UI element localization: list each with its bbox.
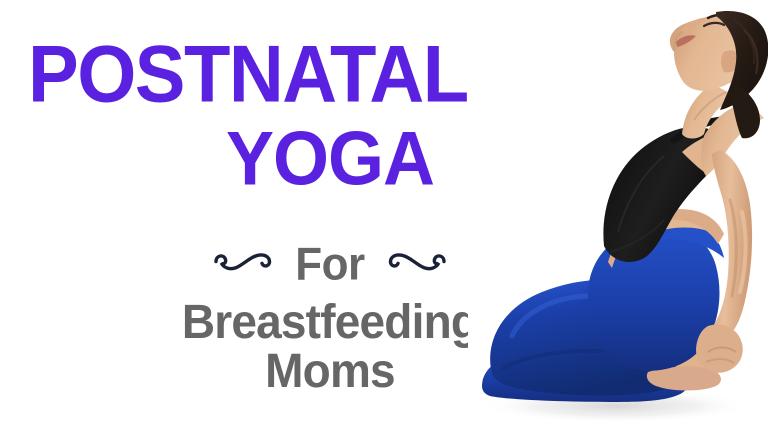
- swirl-flourish-left-icon: [211, 249, 273, 282]
- subtitle-word-for: For: [295, 242, 364, 288]
- thumbnail-canvas: POSTNATAL YOGA For Breastfeeding: [0, 0, 768, 432]
- text-block: POSTNATAL YOGA For Breastfeeding: [0, 0, 520, 432]
- yoga-pose-photo: [468, 0, 768, 432]
- swirl-flourish-right-icon: [387, 249, 449, 282]
